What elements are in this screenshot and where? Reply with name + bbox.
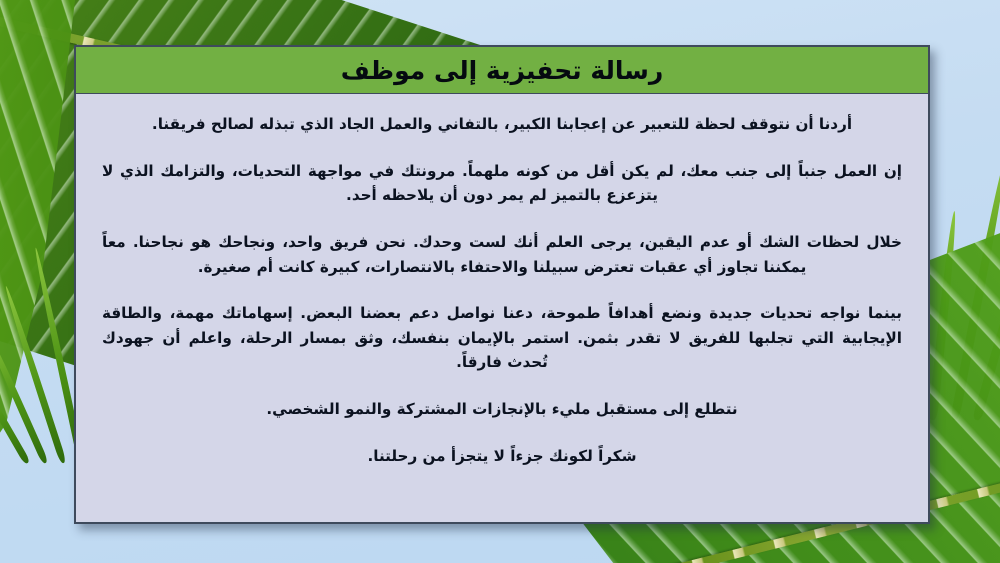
- paragraph-5: نتطلع إلى مستقبل مليء بالإنجازات المشترك…: [102, 397, 902, 422]
- letter-body: أردنا أن نتوقف لحظة للتعبير عن إعجابنا ا…: [76, 94, 928, 522]
- letter-header-banner: رسالة تحفيزية إلى موظف: [76, 47, 928, 94]
- paragraph-2: إن العمل جنباً إلى جنب معك، لم يكن أقل م…: [102, 159, 902, 208]
- palm-blade: [950, 154, 1000, 421]
- paragraph-1: أردنا أن نتوقف لحظة للتعبير عن إعجابنا ا…: [102, 112, 902, 137]
- palm-blade: [928, 211, 959, 421]
- palm-blade: [972, 275, 1000, 422]
- letter-card: رسالة تحفيزية إلى موظف أردنا أن نتوقف لح…: [74, 45, 930, 524]
- paragraph-3: خلال لحظات الشك أو عدم اليقين، يرجى العل…: [102, 230, 902, 279]
- page-title: رسالة تحفيزية إلى موظف: [341, 58, 663, 83]
- palm-blade: [3, 285, 67, 464]
- palm-blade: [0, 323, 49, 465]
- paragraph-4: بينما نواجه تحديات جديدة ونضع أهدافاً طم…: [102, 301, 902, 375]
- palm-blade: [0, 359, 31, 465]
- slide-canvas: رسالة تحفيزية إلى موظف أردنا أن نتوقف لح…: [0, 0, 1000, 563]
- paragraph-6-closing: شكراً لكونك جزءاً لا يتجزأ من رحلتنا.: [102, 444, 902, 469]
